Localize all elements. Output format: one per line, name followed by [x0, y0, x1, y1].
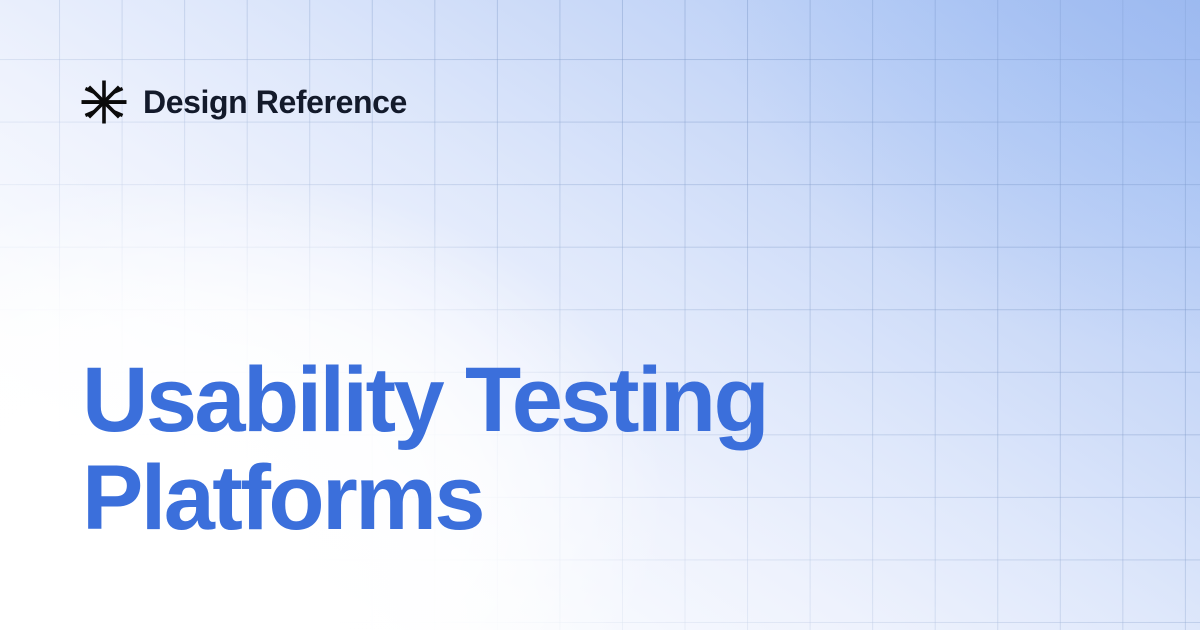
hero-banner: Design Reference Usability Testing Platf… — [0, 0, 1200, 630]
asterisk-starburst-icon — [81, 79, 127, 125]
brand-name-label: Design Reference — [143, 86, 407, 118]
brand-lockup: Design Reference — [81, 79, 407, 125]
page-title: Usability Testing Platforms — [82, 351, 982, 547]
